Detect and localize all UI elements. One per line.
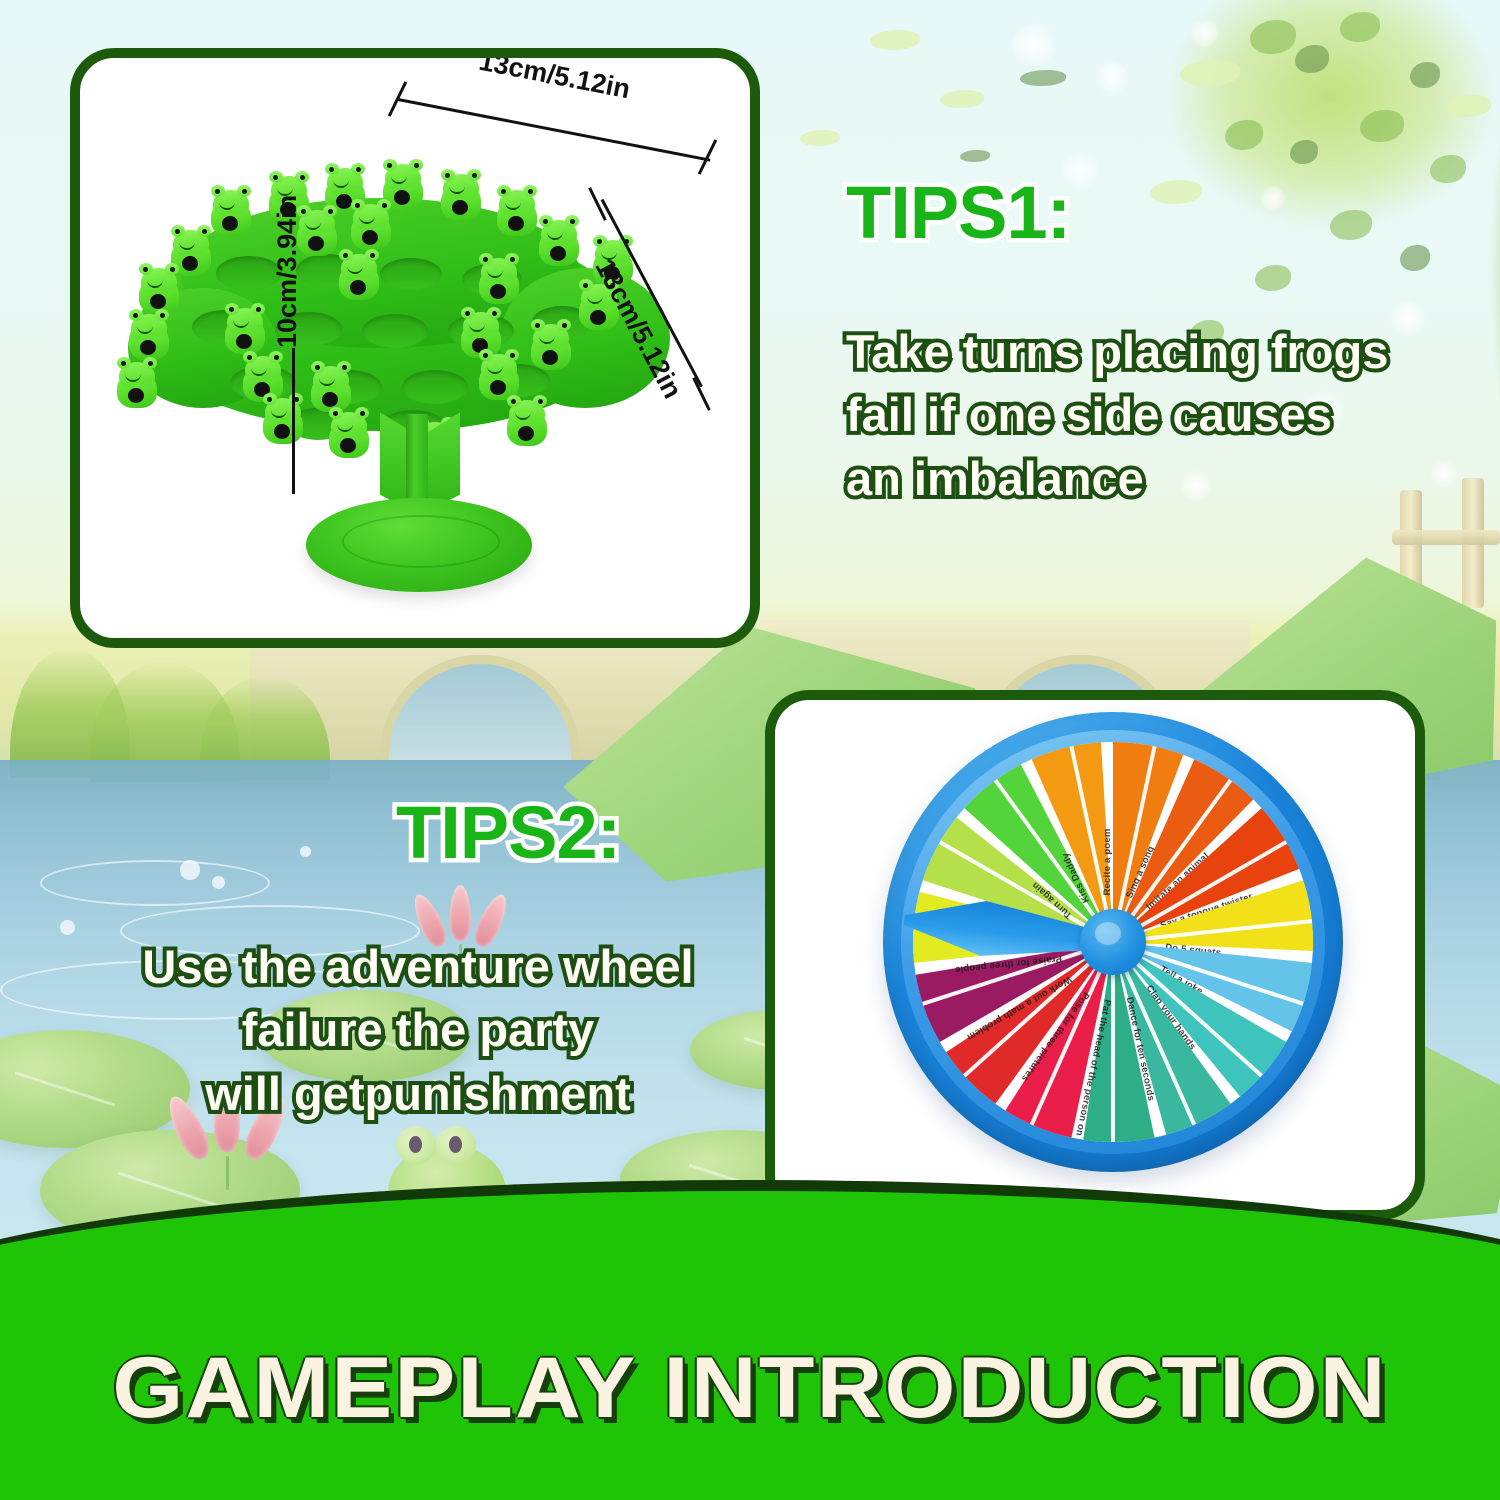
sparkle — [1260, 185, 1286, 211]
bridge-arch — [380, 655, 580, 770]
frog-eye — [436, 1126, 476, 1164]
tips1-heading: TIPS1: — [846, 170, 1070, 255]
peg-socket — [402, 370, 468, 404]
frog-piece — [136, 264, 182, 316]
frog-piece — [308, 362, 354, 414]
frog-piece — [348, 200, 394, 252]
adventure-wheel-card: Recite a poemSing a songImitate an anima… — [765, 690, 1425, 1220]
water-ripple — [40, 860, 270, 906]
tips2-line: Use the adventure wheel — [108, 935, 728, 998]
water-bubble — [60, 920, 75, 935]
tips1-line: Take turns placing frogs — [846, 320, 1446, 383]
frog-piece — [528, 320, 574, 372]
tips1-body: Take turns placing frogs fail if one sid… — [846, 320, 1446, 510]
peg-socket — [362, 314, 428, 348]
tips2-body: Use the adventure wheel failure the part… — [108, 935, 728, 1125]
frog-piece — [222, 304, 268, 356]
sparkle — [1095, 60, 1129, 94]
tips2-line: will getpunishment — [108, 1062, 728, 1125]
dimension-line-height — [292, 348, 295, 494]
frog-piece — [114, 358, 160, 410]
bamboo-rail — [1392, 530, 1500, 545]
sparkle — [1190, 18, 1220, 48]
adventure-wheel[interactable]: Recite a poemSing a songImitate an anima… — [883, 712, 1343, 1172]
frog-eye — [396, 1126, 436, 1164]
product-photo-card: 13cm/5.12in 13cm/5.12in 10cm/3.94in — [70, 48, 760, 648]
tips1-line: fail if one side causes — [846, 383, 1446, 446]
frog-piece — [438, 170, 484, 222]
frog-piece — [536, 216, 582, 268]
frog-piece — [336, 250, 382, 302]
peg-socket — [380, 258, 442, 290]
dimension-label-height: 10cm/3.94in — [272, 195, 303, 348]
tips2-line: failure the party — [108, 998, 728, 1061]
frog-piece — [476, 254, 522, 306]
tips1-line: an imbalance — [846, 447, 1446, 510]
frog-piece — [326, 408, 372, 460]
tree-base — [306, 498, 532, 592]
banner-title: GAMEPLAY INTRODUCTION — [0, 1339, 1500, 1438]
frog-piece — [126, 310, 172, 362]
sparkle — [1010, 22, 1056, 68]
frog-piece — [494, 186, 540, 238]
water-bubble — [180, 860, 200, 880]
frog-piece — [504, 396, 550, 448]
water-bubble — [212, 876, 225, 889]
frog-piece — [260, 394, 306, 446]
product-infographic: 13cm/5.12in 13cm/5.12in 10cm/3.94in TIPS… — [0, 0, 1500, 1500]
bottom-banner: GAMEPLAY INTRODUCTION — [0, 1180, 1500, 1500]
wheel-hub — [1080, 909, 1146, 975]
water-bubble — [300, 846, 311, 857]
frog-piece — [208, 186, 254, 238]
tips2-heading: TIPS2: — [396, 790, 620, 875]
